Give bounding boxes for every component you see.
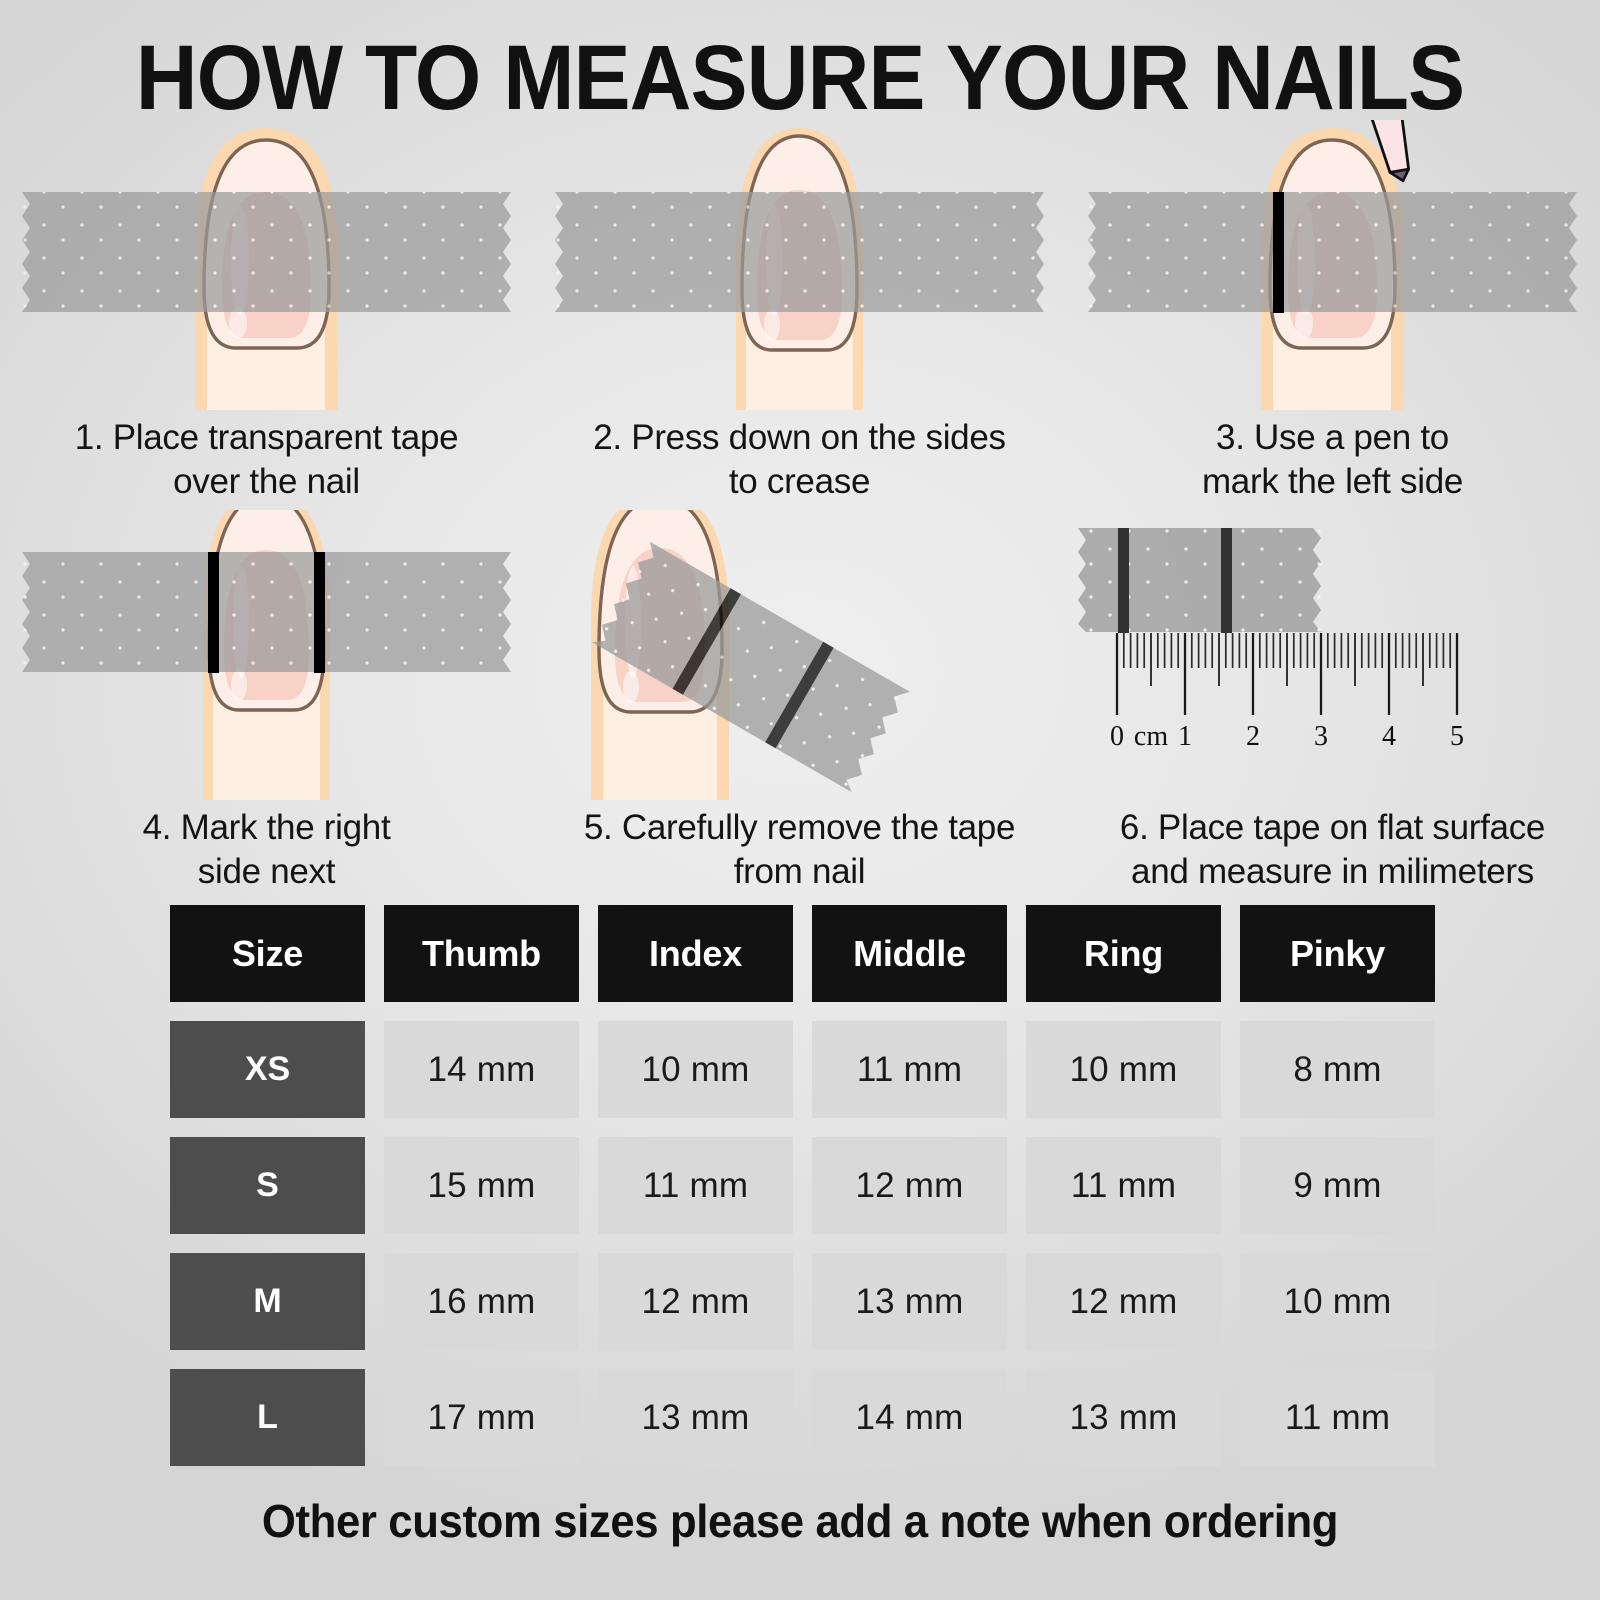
step-3-caption-line2: mark the left side: [1202, 462, 1463, 501]
step-6-caption: 6. Place tape on flat surface and measur…: [1066, 806, 1599, 894]
finger-nail-icon: [0, 120, 533, 410]
finger-nail-icon: [533, 510, 1066, 800]
ruler-label-unit: cm: [1134, 721, 1168, 752]
step-3-caption: 3. Use a pen to mark the left side: [1066, 416, 1599, 504]
cell-m-middle: 13 mm: [812, 1253, 1007, 1350]
ruler-icon: 0 cm 1 2 3 4 5: [1066, 510, 1599, 800]
step-5-caption: 5. Carefully remove the tape from nail: [533, 806, 1066, 894]
right-mark: [314, 552, 325, 673]
step-5-caption-line1: 5. Carefully remove the tape: [584, 808, 1015, 847]
cell-l-thumb: 17 mm: [384, 1369, 579, 1466]
step-1-caption-line1: 1. Place transparent tape: [75, 418, 459, 457]
left-mark: [1273, 192, 1284, 313]
tape-strip-icon: [20, 192, 513, 315]
tape-strip-icon: [553, 192, 1046, 315]
table-header-thumb: Thumb: [384, 905, 579, 1002]
cell-xs-pinky: 8 mm: [1240, 1021, 1435, 1118]
row-size-xs: XS: [170, 1021, 365, 1118]
finger-nail-icon: [533, 120, 1066, 410]
step-2: 2. Press down on the sides to crease: [533, 120, 1066, 504]
step-6-illustration: 0 cm 1 2 3 4 5: [1066, 510, 1599, 800]
table-header-row: Size Thumb Index Middle Ring Pinky: [170, 905, 1463, 1002]
table-header-pinky: Pinky: [1240, 905, 1435, 1002]
table-header-index: Index: [598, 905, 793, 1002]
row-size-m: M: [170, 1253, 365, 1350]
cell-m-ring: 12 mm: [1026, 1253, 1221, 1350]
left-mark: [208, 552, 219, 673]
step-2-caption-line1: 2. Press down on the sides: [593, 418, 1005, 457]
step-3: 3. Use a pen to mark the left side: [1066, 120, 1599, 504]
table-header-ring: Ring: [1026, 905, 1221, 1002]
cell-s-index: 11 mm: [598, 1137, 793, 1234]
step-2-caption-line2: to crease: [729, 462, 870, 501]
step-1: 1. Place transparent tape over the nail: [0, 120, 533, 504]
table-row: S 15 mm 11 mm 12 mm 11 mm 9 mm: [170, 1137, 1463, 1234]
step-4-caption-line2: side next: [198, 852, 335, 891]
page-title: HOW TO MEASURE YOUR NAILS: [56, 26, 1544, 131]
right-mark: [1221, 528, 1232, 633]
cell-l-index: 13 mm: [598, 1369, 793, 1466]
tape-strip-icon: [20, 552, 513, 675]
table-row: L 17 mm 13 mm 14 mm 13 mm 11 mm: [170, 1369, 1463, 1466]
table-header-middle: Middle: [812, 905, 1007, 1002]
step-3-caption-line1: 3. Use a pen to: [1216, 418, 1449, 457]
ruler-label-5: 5: [1450, 721, 1464, 752]
cell-l-middle: 14 mm: [812, 1369, 1007, 1466]
tape-strip-icon: [1076, 528, 1324, 633]
step-6: 0 cm 1 2 3 4 5 6. Place tape on flat sur…: [1066, 510, 1599, 894]
ruler-label-1: 1: [1178, 721, 1192, 752]
table-row: M 16 mm 12 mm 13 mm 12 mm 10 mm: [170, 1253, 1463, 1350]
tape-strip-icon: [1086, 192, 1579, 315]
step-2-illustration: [533, 120, 1066, 410]
cell-m-index: 12 mm: [598, 1253, 793, 1350]
cell-s-pinky: 9 mm: [1240, 1137, 1435, 1234]
ruler-label-0: 0: [1110, 721, 1124, 752]
step-1-illustration: [0, 120, 533, 410]
step-5: 5. Carefully remove the tape from nail: [533, 510, 1066, 894]
step-1-caption-line2: over the nail: [173, 462, 360, 501]
cell-m-thumb: 16 mm: [384, 1253, 579, 1350]
step-5-illustration: [533, 510, 1066, 800]
cell-l-ring: 13 mm: [1026, 1369, 1221, 1466]
step-4-caption: 4. Mark the right side next: [0, 806, 533, 894]
infographic-page: HOW TO MEASURE YOUR NAILS: [0, 0, 1600, 1600]
finger-nail-icon: [1066, 120, 1599, 410]
left-mark: [1118, 528, 1129, 633]
step-1-caption: 1. Place transparent tape over the nail: [0, 416, 533, 504]
ruler-label-3: 3: [1314, 721, 1328, 752]
row-size-l: L: [170, 1369, 365, 1466]
step-4-caption-line1: 4. Mark the right: [143, 808, 391, 847]
size-chart-table: Size Thumb Index Middle Ring Pinky XS 14…: [170, 905, 1463, 1485]
step-4: 4. Mark the right side next: [0, 510, 533, 894]
step-6-caption-line1: 6. Place tape on flat surface: [1120, 808, 1545, 847]
step-3-illustration: [1066, 120, 1599, 410]
table-header-size: Size: [170, 905, 365, 1002]
cell-s-thumb: 15 mm: [384, 1137, 579, 1234]
footer-note: Other custom sizes please add a note whe…: [40, 1494, 1560, 1548]
cell-xs-index: 10 mm: [598, 1021, 793, 1118]
ruler-scale: 0 cm 1 2 3 4 5: [1110, 633, 1464, 752]
ruler-label-2: 2: [1246, 721, 1260, 752]
cell-xs-ring: 10 mm: [1026, 1021, 1221, 1118]
ruler-label-4: 4: [1382, 721, 1396, 752]
finger-nail-icon: [0, 510, 533, 800]
cell-m-pinky: 10 mm: [1240, 1253, 1435, 1350]
cell-xs-thumb: 14 mm: [384, 1021, 579, 1118]
cell-s-middle: 12 mm: [812, 1137, 1007, 1234]
cell-xs-middle: 11 mm: [812, 1021, 1007, 1118]
cell-l-pinky: 11 mm: [1240, 1369, 1435, 1466]
step-6-caption-line2: and measure in milimeters: [1131, 852, 1534, 891]
row-size-s: S: [170, 1137, 365, 1234]
step-2-caption: 2. Press down on the sides to crease: [533, 416, 1066, 504]
table-row: XS 14 mm 10 mm 11 mm 10 mm 8 mm: [170, 1021, 1463, 1118]
cell-s-ring: 11 mm: [1026, 1137, 1221, 1234]
step-4-illustration: [0, 510, 533, 800]
step-5-caption-line2: from nail: [734, 852, 866, 891]
